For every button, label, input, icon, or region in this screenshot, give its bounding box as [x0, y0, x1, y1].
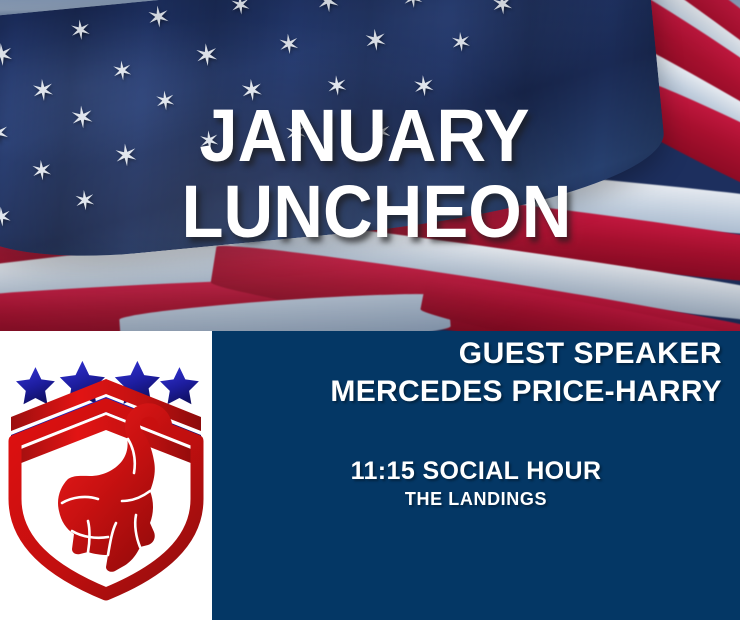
republican-shield-elephant-logo	[2, 331, 210, 606]
venue-name: THE LANDINGS	[212, 489, 740, 510]
luncheon-flyer: ✶ ✶ ✶ ✶ ✶ ✶ ✶ ✶ ✶ ✶ ✶ ✶ ✶ ✶ ✶ ✶ ✶ ✶ ✶ ✶ …	[0, 0, 740, 620]
bottom-section: GUEST SPEAKER MERCEDES PRICE-HARRY 11:15…	[0, 331, 740, 620]
flag-hero-image: ✶ ✶ ✶ ✶ ✶ ✶ ✶ ✶ ✶ ✶ ✶ ✶ ✶ ✶ ✶ ✶ ✶ ✶ ✶ ✶ …	[0, 0, 740, 331]
logo-svg	[2, 331, 210, 606]
title-line-2: LUNCHEON	[26, 177, 714, 247]
logo-panel	[0, 331, 212, 620]
page-title: JANUARY LUNCHEON	[26, 101, 714, 248]
info-panel: GUEST SPEAKER MERCEDES PRICE-HARRY 11:15…	[212, 331, 740, 620]
title-line-1: JANUARY	[26, 101, 714, 171]
guest-speaker-name: MERCEDES PRICE-HARRY	[330, 375, 722, 409]
social-hour-time: 11:15 SOCIAL HOUR	[212, 457, 740, 486]
guest-speaker-label: GUEST SPEAKER	[459, 337, 722, 371]
